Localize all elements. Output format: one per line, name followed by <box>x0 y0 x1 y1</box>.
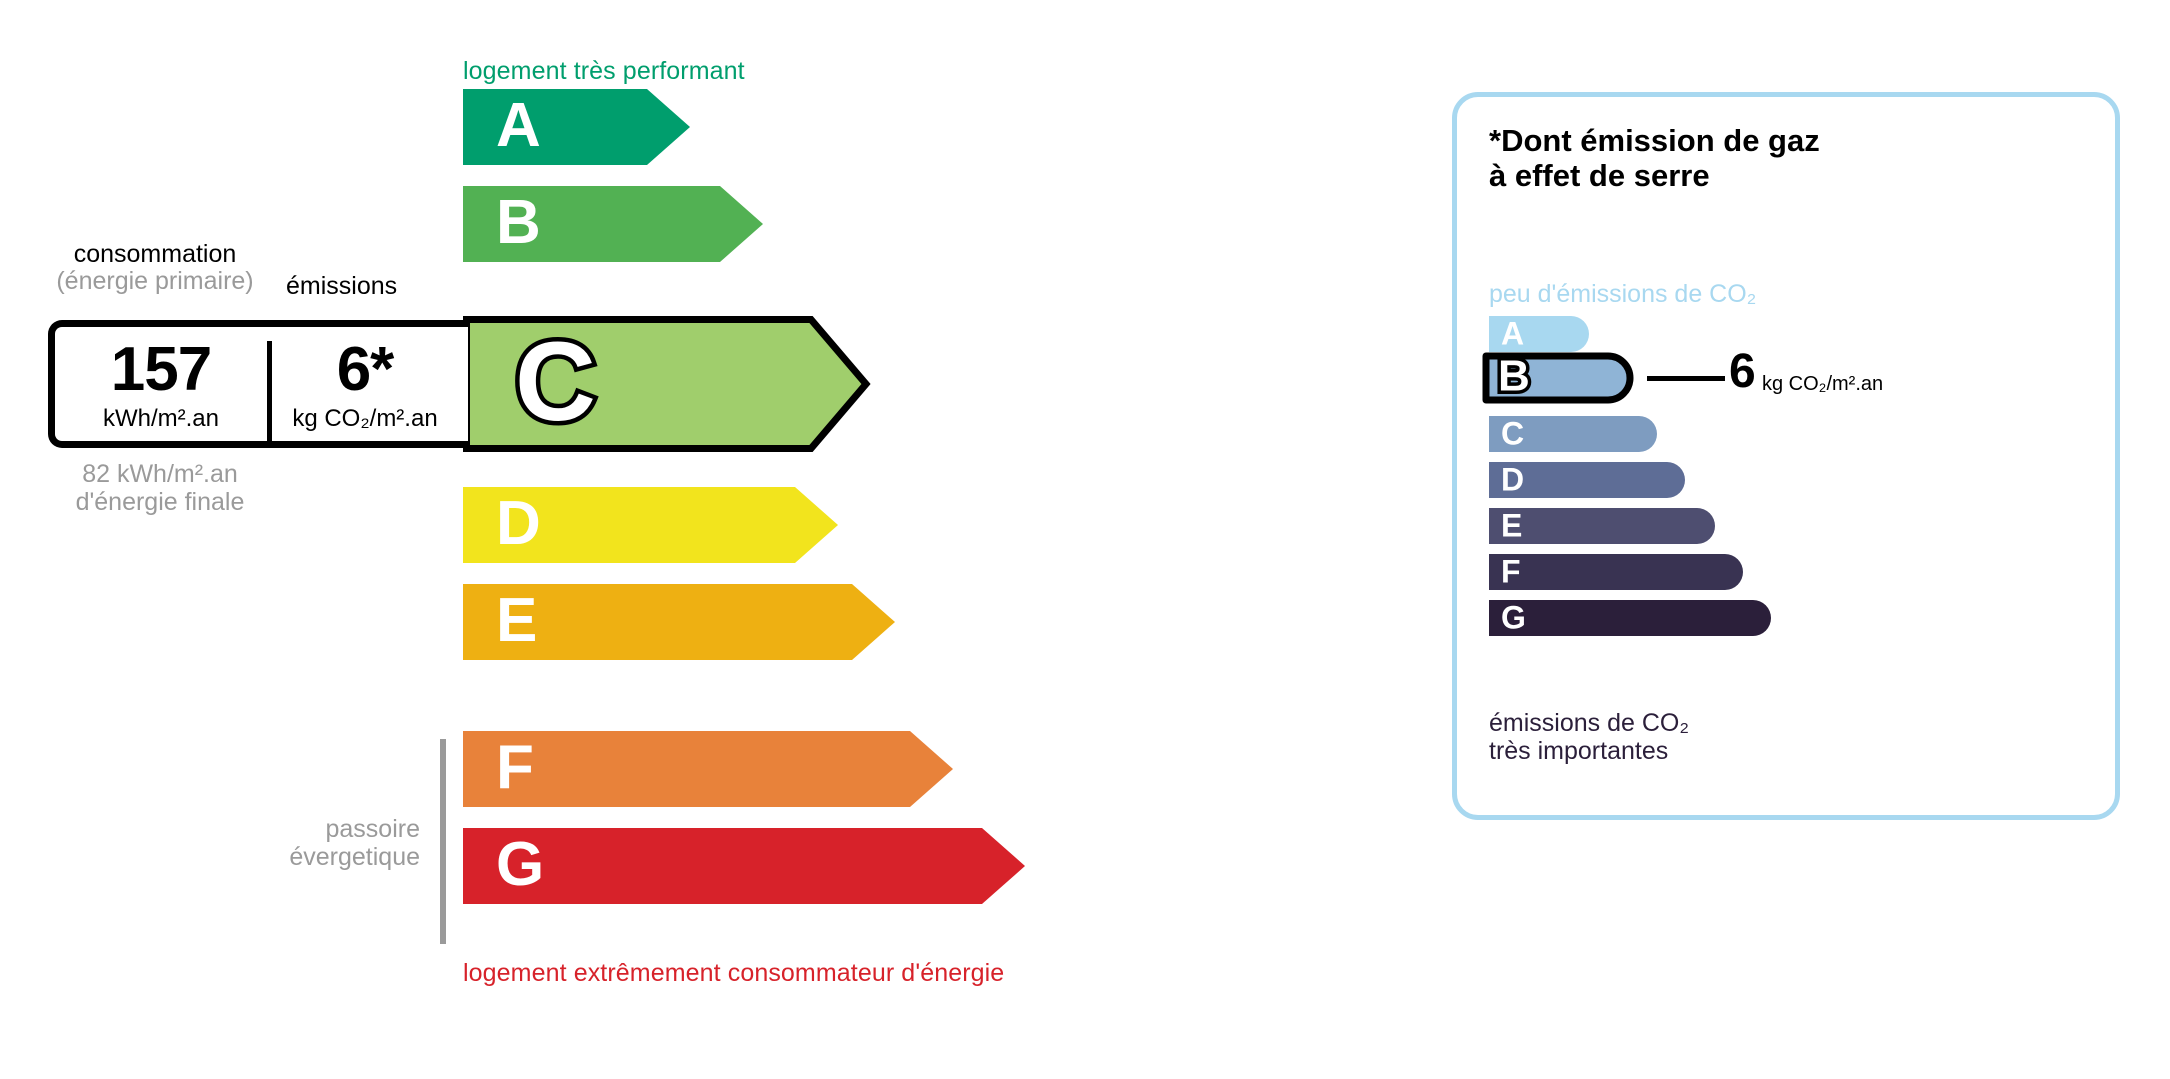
co2-value-unit: kg CO₂/m².an <box>1762 374 1883 394</box>
consumption-label: consommation (énergie primaire) <box>52 241 258 295</box>
scale-caption-top: logement très performant <box>463 57 745 86</box>
co2-class-letter-e: E <box>1501 509 1522 541</box>
energy-class-bar-a[interactable]: A <box>463 89 690 165</box>
emissions-value-cell: 6* kg CO₂/m².an <box>269 327 461 441</box>
emissions-value: 6* <box>269 339 461 401</box>
emissions-unit: kg CO₂/m².an <box>269 407 461 431</box>
co2-class-bar-a[interactable]: A <box>1489 316 1589 352</box>
passoire-label: passoire évergetique <box>250 815 420 871</box>
emissions-label: émissions <box>286 273 397 300</box>
energy-class-bar-d[interactable]: D <box>463 487 838 563</box>
energy-class-bar-c-selected[interactable]: C <box>463 316 870 452</box>
final-energy-note: 82 kWh/m².an d'énergie finale <box>60 460 260 516</box>
energy-class-bar-b[interactable]: B <box>463 186 763 262</box>
consumption-value-cell: 157 kWh/m².an <box>55 327 267 441</box>
consumption-label-title: consommation <box>74 240 237 268</box>
passoire-bracket <box>440 739 446 944</box>
consumption-unit: kWh/m².an <box>55 407 267 431</box>
co2-class-bar-e[interactable]: E <box>1489 508 1715 544</box>
co2-class-bar-b-selected[interactable]: B <box>1482 352 1634 404</box>
value-box: 157 kWh/m².an 6* kg CO₂/m².an <box>48 320 468 448</box>
scale-caption-bottom: logement extrêmement consommateur d'éner… <box>463 959 1004 988</box>
co2-panel-title: *Dont émission de gaz à effet de serre <box>1489 124 1820 193</box>
energy-performance-scale: logement très performant A B C D E <box>0 0 1400 1079</box>
co2-class-bar-g[interactable]: G <box>1489 600 1771 636</box>
co2-class-letter-a: A <box>1501 317 1524 349</box>
co2-class-bar-f[interactable]: F <box>1489 554 1743 590</box>
co2-leader-line <box>1647 376 1725 381</box>
consumption-label-subtitle: (énergie primaire) <box>52 268 258 295</box>
consumption-value: 157 <box>55 339 267 401</box>
co2-emissions-panel: *Dont émission de gaz à effet de serre p… <box>1452 92 2120 820</box>
co2-class-letter-d: D <box>1501 463 1524 495</box>
energy-class-bar-e[interactable]: E <box>463 584 895 660</box>
co2-class-letter-b: B <box>1498 355 1530 399</box>
co2-class-letter-c: C <box>1501 417 1524 449</box>
co2-caption-bottom: émissions de CO₂ très importantes <box>1489 709 1689 765</box>
co2-class-letter-g: G <box>1501 601 1526 633</box>
co2-class-bar-d[interactable]: D <box>1489 462 1685 498</box>
co2-caption-top: peu d'émissions de CO₂ <box>1489 280 1756 309</box>
energy-class-bar-f[interactable]: F <box>463 731 953 807</box>
co2-value: 6 <box>1729 348 1756 396</box>
co2-class-bar-c[interactable]: C <box>1489 416 1657 452</box>
energy-class-bar-g[interactable]: G <box>463 828 1025 904</box>
co2-class-letter-f: F <box>1501 555 1521 587</box>
